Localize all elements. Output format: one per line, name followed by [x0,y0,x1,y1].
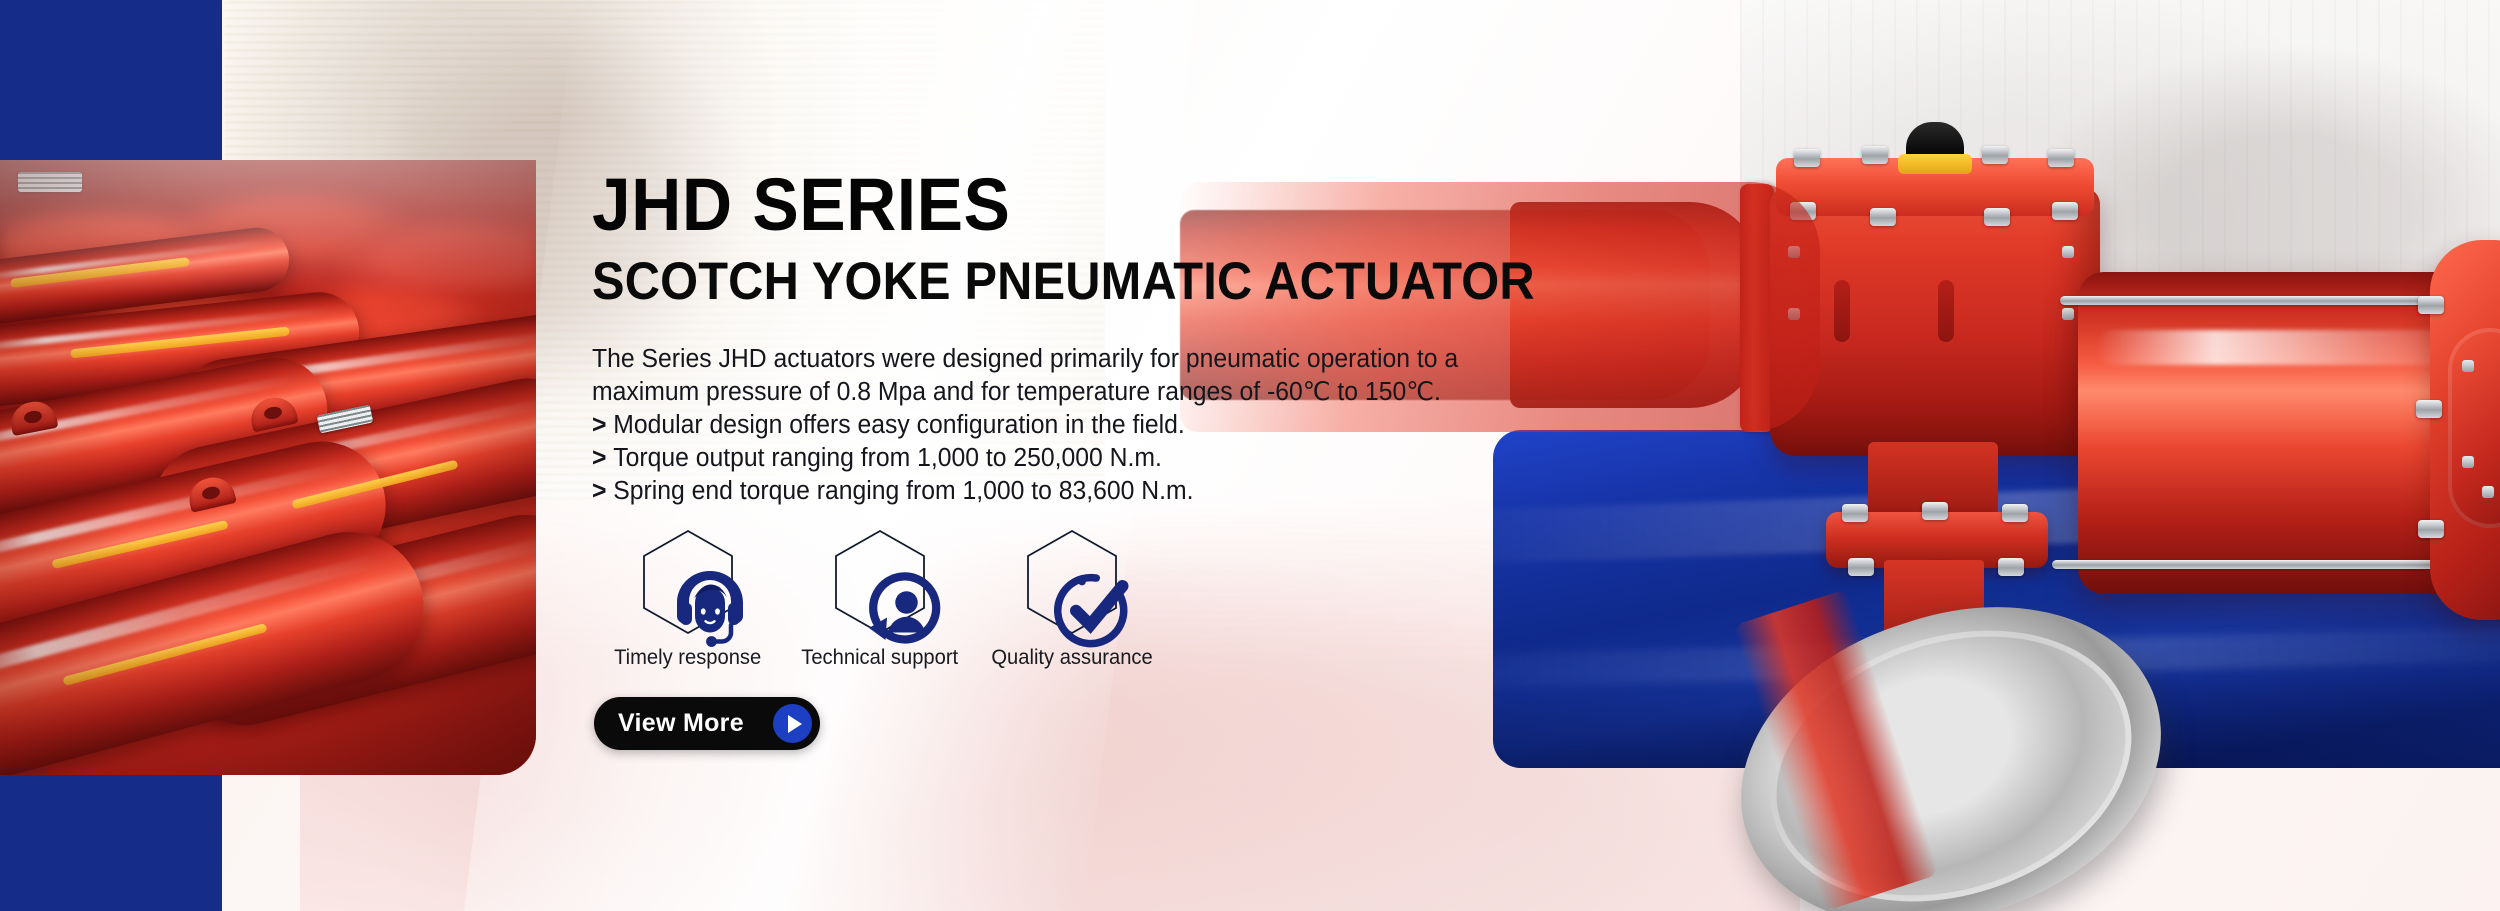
hexagon-frame [1024,528,1120,636]
left-product-photo [0,160,536,775]
headset-support-icon [662,556,714,608]
description-bullet: >Spring end torque ranging from 1,000 to… [592,475,1572,508]
product-banner: JHD SERIES SCOTCH YOKE PNEUMATIC ACTUATO… [0,0,2500,911]
view-more-button[interactable]: View More [594,697,820,750]
feature-item-quality-assurance: Quality assurance [976,528,1168,670]
feature-item-technical-support: Technical support [784,528,976,670]
product-description: The Series JHD actuators were designed p… [592,343,1572,508]
description-bullet: >Torque output ranging from 1,000 to 250… [592,442,1572,475]
bullet-marker-icon: > [592,411,606,439]
bullet-marker-icon: > [592,477,606,505]
user-refresh-icon [854,556,906,608]
feature-item-timely-response: Timely response [592,528,784,670]
bullet-marker-icon: > [592,444,606,472]
check-circle-icon [1046,556,1098,608]
feature-label: Technical support [802,646,959,670]
bullet-text: Spring end torque ranging from 1,000 to … [613,477,1193,505]
page-title: JHD SERIES [592,168,1010,242]
description-line: The Series JHD actuators were designed p… [592,343,1572,376]
content-column: JHD SERIES SCOTCH YOKE PNEUMATIC ACTUATO… [592,0,1692,911]
description-bullet: >Modular design offers easy configuratio… [592,409,1572,442]
bullet-text: Torque output ranging from 1,000 to 250,… [613,444,1162,472]
hexagon-frame [640,528,736,636]
feature-list: Timely response [592,528,1168,670]
bullet-text: Modular design offers easy configuration… [613,411,1185,439]
page-subtitle: SCOTCH YOKE PNEUMATIC ACTUATOR [592,255,1535,308]
hexagon-frame [832,528,928,636]
feature-label: Timely response [614,646,761,670]
play-icon [773,704,812,743]
description-line: maximum pressure of 0.8 Mpa and for temp… [592,376,1572,409]
view-more-label: View More [618,709,773,738]
feature-label: Quality assurance [991,646,1152,670]
